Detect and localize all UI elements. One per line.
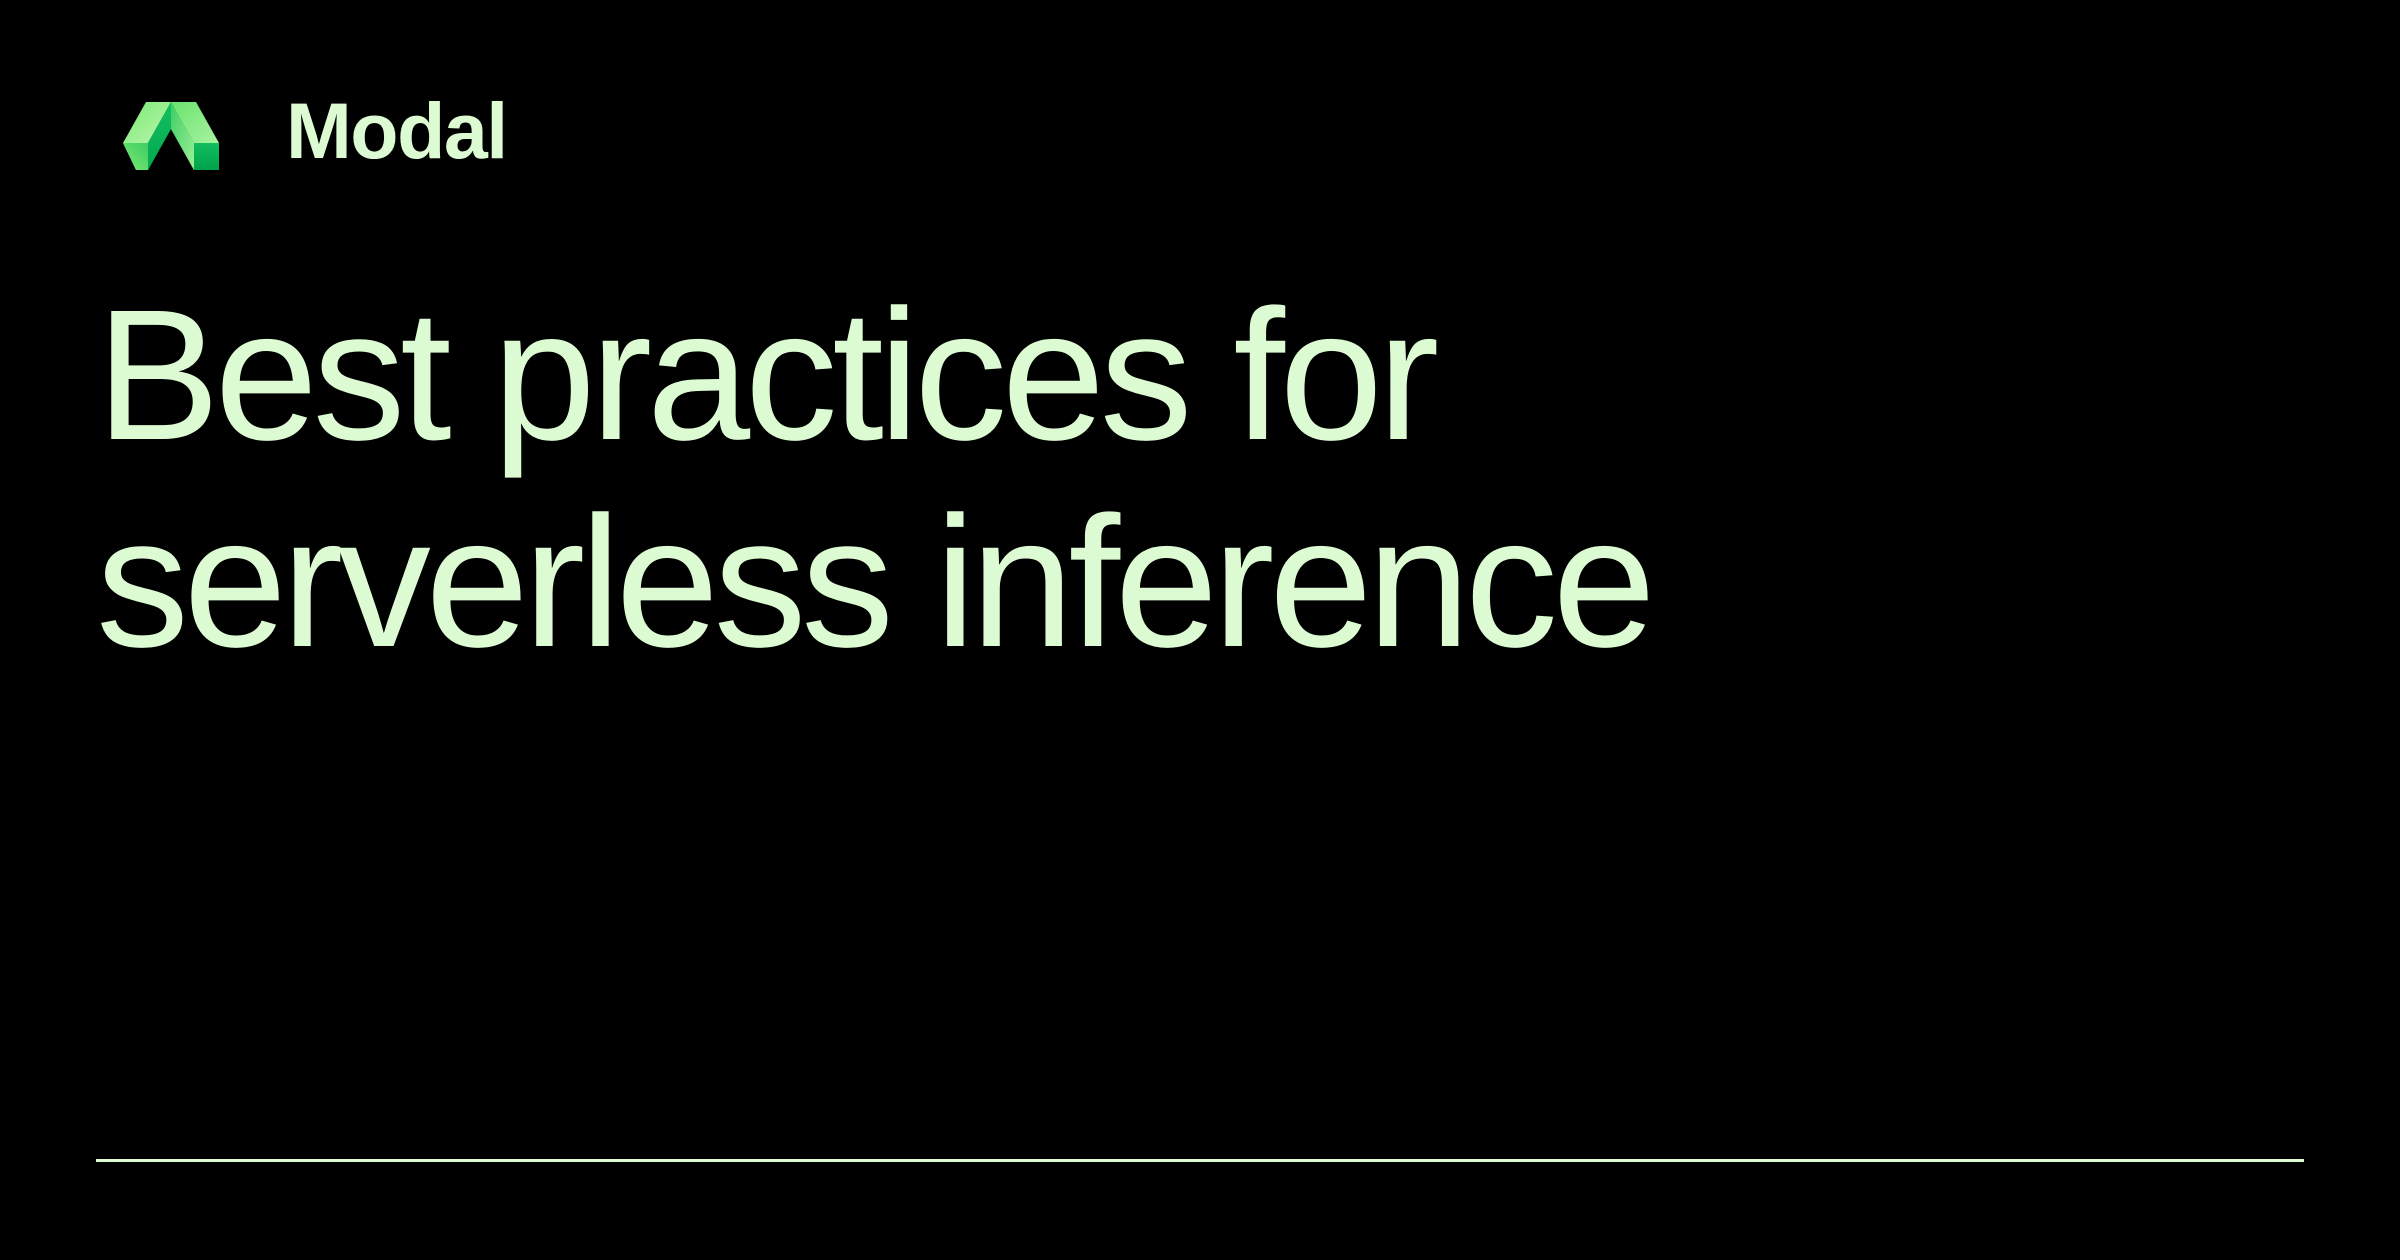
brand-lockup[interactable]: Modal	[96, 88, 507, 170]
modal-logo-mark	[96, 88, 246, 170]
page-title-line-1: Best practices for	[96, 272, 2196, 479]
footer-divider-rule	[96, 1159, 2304, 1162]
page-title: Best practices for serverless inference	[96, 272, 2196, 687]
brand-wordmark: Modal	[286, 91, 507, 170]
page-title-line-2: serverless inference	[96, 479, 2196, 686]
title-slide: Modal Best practices for serverless infe…	[0, 0, 2400, 1260]
